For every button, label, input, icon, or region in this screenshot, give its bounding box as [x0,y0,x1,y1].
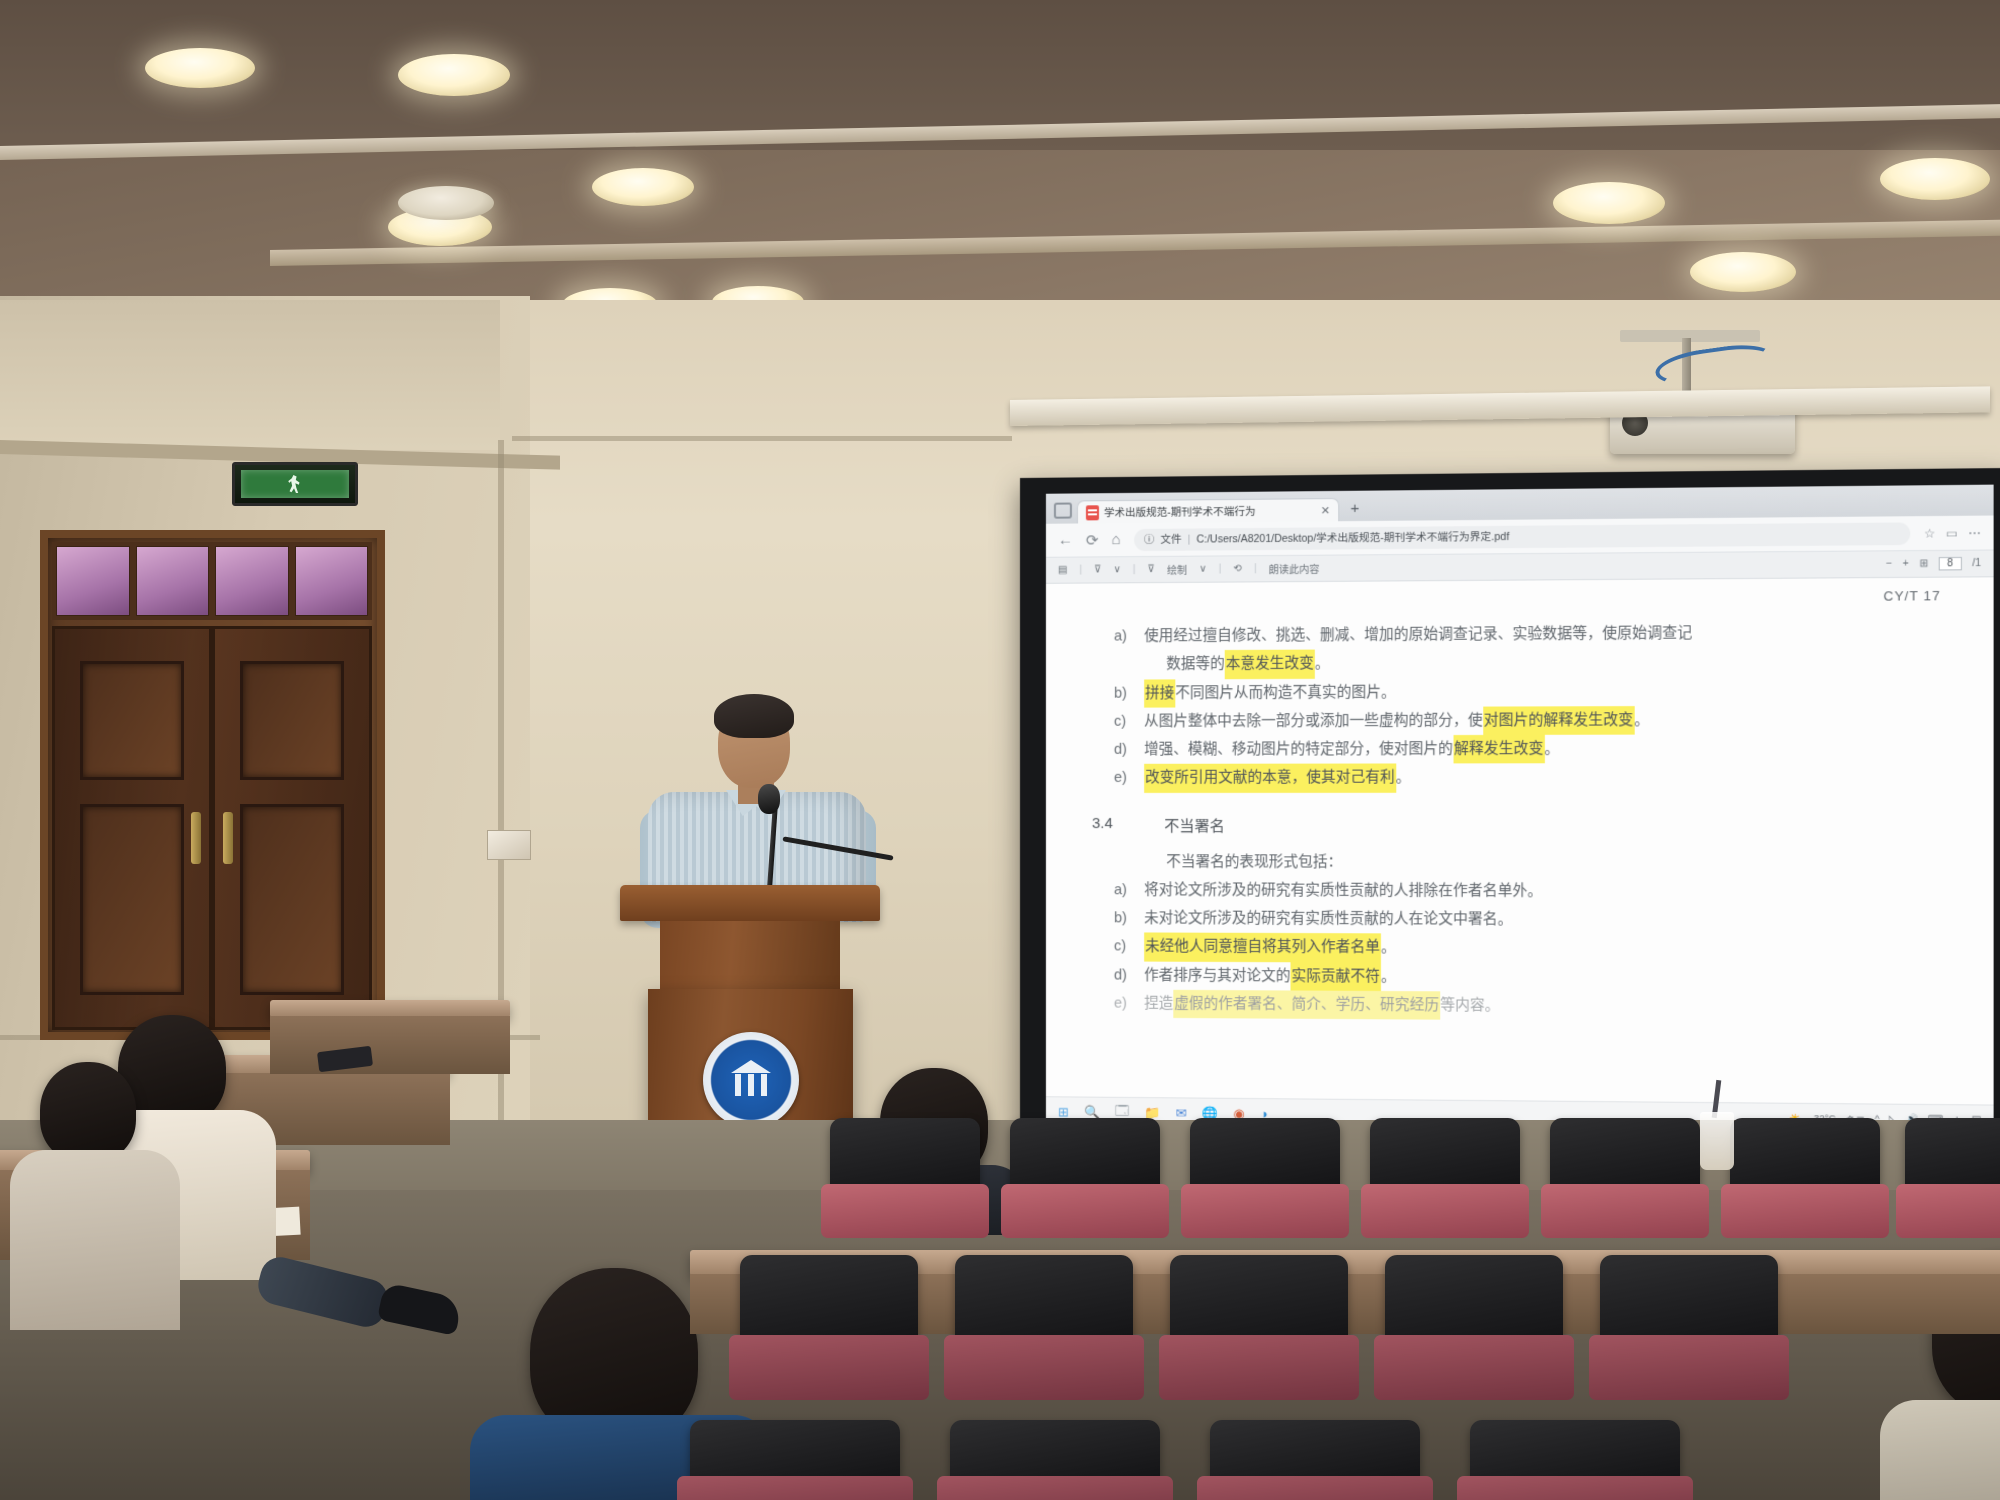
door-leaf-left[interactable] [52,626,212,1030]
chair[interactable] [1550,1118,1700,1236]
list-item-cont: 数据等的 本意发生改变 。 [1092,647,1945,679]
ceiling-light [592,168,694,206]
chair[interactable] [1730,1118,1880,1236]
list-text-cont: 数据等的 [1092,650,1225,679]
list-item: a) 将对论文所涉及的研究有实质性贡献的人排除在作者名单外。 [1092,876,1945,907]
speaker-hair [714,694,794,738]
ceiling-light [1880,158,1990,200]
chair-seat [1181,1184,1349,1238]
chair-back [690,1420,900,1482]
list-marker: e) [1092,989,1144,1018]
door-handle[interactable] [223,812,233,864]
drink-cup[interactable] [1700,1112,1734,1170]
desk-front-panel [270,1016,510,1074]
door-leaves[interactable] [52,626,372,1030]
address-bar-actions: ☆ ▭ ⋯ [1924,525,1981,540]
chair[interactable] [950,1420,1160,1500]
list-text-tail: 。 [1315,650,1330,679]
ceiling-light [1690,252,1796,292]
chair-back [740,1255,918,1343]
transom-pane [215,546,289,616]
pdf-toolbar-right: − + ⊞ 8 /1 [1886,557,1981,571]
door-panel [80,661,185,780]
list-text-tail: 。 [1634,706,1649,735]
pdf-tool-draw-icon[interactable]: ⊽ [1147,564,1154,575]
chair-seat [1457,1476,1692,1500]
emblem-roof [731,1060,771,1073]
chair-seat [1197,1476,1432,1500]
chair[interactable] [1170,1255,1348,1397]
collections-icon[interactable]: ▭ [1946,526,1958,540]
chair-back [1600,1255,1778,1343]
section-heading: 3.4 不当署名 [1092,815,1945,837]
chair-seat [1001,1184,1169,1238]
list-marker: a) [1092,622,1144,651]
highlighted-text: 对图片的解释发生改变 [1483,706,1634,735]
page-fade [1046,1056,1994,1104]
chair-back [1730,1118,1880,1191]
ceiling-light [398,186,494,220]
chair-back [1210,1420,1420,1482]
list-text: 使用经过擅自修改、挑选、删减、增加的原始调查记录、实验数据等，使原始调查记 [1144,619,1692,650]
wall-seam [498,440,504,1200]
list-text: 从图片整体中去除一部分或添加一些虚构的部分，使 [1144,706,1483,735]
transom-pane [56,546,130,616]
transom-pane [295,546,369,616]
list-item: e) 捏造 虚假的作者署名、简介、学历、研究经历 等内容。 [1092,989,1945,1023]
zoom-in-button[interactable]: + [1903,558,1909,569]
pdf-tool-draw-dropdown-icon[interactable]: ∨ [1199,564,1206,575]
podium-emblem-icon [703,1032,799,1128]
pdf-tool-draw-label[interactable]: 绘制 [1167,562,1187,577]
transom-pane [136,546,210,616]
chair[interactable] [1370,1118,1520,1236]
chair[interactable] [690,1420,900,1500]
chair-back [1190,1118,1340,1191]
list-marker: c) [1092,933,1144,962]
highlighted-text: 未经他人同意擅自将其列入作者名单 [1144,933,1381,962]
list-text-tail: 。 [1381,934,1396,963]
projected-image: 学术出版规范-期刊学术不端行为 ✕ + ← ⟳ ⌂ ⓘ 文件 | C:/User… [1046,485,1994,1136]
chair-back [830,1118,980,1191]
back-icon[interactable]: ← [1058,532,1073,549]
list-item: a) 使用经过擅自修改、挑选、删减、增加的原始调查记录、实验数据等，使原始调查记 [1092,618,1945,651]
chair[interactable] [1385,1255,1563,1397]
chair-seat [677,1476,912,1500]
tab-overview-icon[interactable] [1054,503,1072,519]
projection-screen: 学术出版规范-期刊学术不端行为 ✕ + ← ⟳ ⌂ ⓘ 文件 | C:/User… [1020,468,2000,1150]
chair-back [955,1255,1133,1343]
list-marker: a) [1092,876,1144,904]
highlighted-text: 拼接 [1144,679,1175,707]
list-text-tail: 。 [1396,764,1411,793]
chair-back [1010,1118,1160,1191]
list-text: 增强、模糊、移动图片的特定部分，使对图片的 [1144,735,1453,764]
list-marker: e) [1092,764,1144,792]
emblem-column [735,1074,741,1096]
door-panel [240,804,345,995]
chair-seat [944,1335,1143,1400]
chair-back [1550,1118,1700,1191]
list-item: b) 拼接 不同图片从而构造不真实的图片。 [1092,676,1945,708]
list-text-tail: 等内容。 [1440,991,1499,1020]
more-menu-icon[interactable]: ⋯ [1968,525,1981,540]
list-marker: d) [1092,736,1144,764]
mail-icon[interactable]: ✉ [1176,1105,1187,1121]
chair[interactable] [1010,1118,1160,1236]
address-url: C:/Users/A8201/Desktop/学术出版规范-期刊学术不端行为界定… [1196,529,1509,547]
list-text: 捏造 [1144,990,1173,1019]
fit-page-button[interactable]: ⊞ [1919,558,1928,569]
new-tab-icon[interactable]: + [1350,500,1359,517]
favorite-icon[interactable]: ☆ [1924,526,1935,540]
door-leaf-right[interactable] [212,626,372,1030]
lecture-hall-photo: 学术出版规范-期刊学术不端行为 ✕ + ← ⟳ ⌂ ⓘ 文件 | C:/User… [0,0,2000,1500]
chair-back [950,1420,1160,1482]
chair-seat [937,1476,1172,1500]
chair[interactable] [740,1255,918,1397]
chair-seat [729,1335,928,1400]
chair-seat [1896,1184,2000,1238]
list-marker: b) [1092,679,1144,708]
address-input[interactable]: ⓘ 文件 | C:/Users/A8201/Desktop/学术出版规范-期刊学… [1134,522,1910,551]
browser-tab[interactable]: 学术出版规范-期刊学术不端行为 ✕ [1077,498,1339,524]
ceiling-light [398,54,510,96]
toolbar-divider: | [1133,564,1136,575]
emblem-columns [735,1074,767,1096]
running-man-icon [287,475,303,493]
list-text: 未对论文所涉及的研究有实质性贡献的人在论文中署名。 [1144,904,1512,934]
list-text-tail: 。 [1381,962,1396,991]
toolbar-divider: | [1079,565,1082,576]
list-marker: d) [1092,961,1144,990]
pdf-tool-thumbnails-icon[interactable]: ▤ [1058,565,1067,576]
list-item: c) 从图片整体中去除一部分或添加一些虚构的部分，使 对图片的解释发生改变 。 [1092,705,1945,736]
chair-seat [1541,1184,1709,1238]
pdf-tool-erase-icon[interactable]: ⟲ [1233,563,1241,574]
chair-seat [1159,1335,1358,1400]
close-tab-icon[interactable]: ✕ [1321,504,1330,517]
highlighted-text: 实际贡献不符 [1290,962,1380,991]
toolbar-divider: | [1219,563,1222,574]
chair-back [1385,1255,1563,1343]
chair[interactable] [1600,1255,1778,1397]
chair-seat [1361,1184,1529,1238]
page-number-input[interactable]: 8 [1939,557,1962,571]
document-header: CY/T 17 [1092,588,1945,609]
security-label: 文件 [1160,532,1181,547]
chair-back [1905,1118,2000,1191]
pdf-favicon-icon [1086,505,1099,520]
chair[interactable] [1905,1118,2000,1236]
chair[interactable] [1190,1118,1340,1236]
list-text: 作者排序与其对论文的 [1144,961,1290,990]
chair-back [1170,1255,1348,1343]
list-item: b) 未对论文所涉及的研究有实质性贡献的人在论文中署名。 [1092,904,1945,936]
chair[interactable] [955,1255,1133,1397]
section-title: 不当署名 [1164,815,1224,836]
exit-sign-face [241,470,349,498]
light-switch-plate[interactable] [487,830,531,860]
highlighted-text: 解释发生改变 [1453,735,1544,764]
page-total-label: /1 [1972,558,1981,569]
chair-seat [1589,1335,1788,1400]
list-text-tail: 。 [1544,735,1559,764]
door-panel [80,804,185,995]
door-panel [240,661,345,780]
emblem-building-glyph [731,1060,771,1100]
pdf-tool-highlight-icon[interactable]: ⊽ [1094,564,1101,575]
reload-icon[interactable]: ⟳ [1086,531,1099,549]
chair[interactable] [830,1118,980,1236]
chair-back [1370,1118,1520,1191]
section-lead-text: 不当署名的表现形式包括： [1092,848,1945,878]
chair[interactable] [1210,1420,1420,1500]
ceiling-light [145,48,255,88]
door-handle[interactable] [191,812,201,864]
exit-sign [232,462,358,506]
ceiling-light [1553,182,1665,224]
chair[interactable] [1470,1420,1680,1500]
site-info-icon[interactable]: ⓘ [1144,532,1155,547]
chair-seat [821,1184,989,1238]
podium-neck [660,921,840,989]
home-icon[interactable]: ⌂ [1112,531,1121,548]
section-number: 3.4 [1092,815,1164,836]
list-item: c) 未经他人同意擅自将其列入作者名单 。 [1092,933,1945,965]
pdf-read-aloud-button[interactable]: 朗读此内容 [1269,561,1320,576]
emblem-column [748,1074,754,1096]
address-separator: | [1188,533,1191,545]
wall-seam [512,436,1012,441]
audience-body [10,1150,180,1330]
emblem-column [761,1074,767,1096]
pdf-tool-highlight-dropdown-icon[interactable]: ∨ [1113,564,1120,575]
highlighted-text: 改变所引用文献的本意，使其对己有利 [1144,764,1396,793]
list-marker: c) [1092,707,1144,735]
audience-head [40,1062,136,1162]
list-item: d) 增强、模糊、移动图片的特定部分，使对图片的 解释发生改变 。 [1092,734,1945,764]
list-item: e) 改变所引用文献的本意，使其对己有利 。 [1092,763,1945,792]
chair-seat [1721,1184,1889,1238]
toolbar-divider: | [1254,563,1257,574]
microphone-head [758,784,780,814]
list-text: 不同图片从而构造不真实的图片。 [1175,678,1395,707]
podium-top [620,885,880,921]
highlighted-text: 本意发生改变 [1225,650,1315,679]
tab-title: 学术出版规范-期刊学术不端行为 [1104,503,1256,519]
highlighted-text: 虚假的作者署名、简介、学历、研究经历 [1173,990,1440,1020]
upper-left-wall [0,300,500,450]
chair-back [1470,1420,1680,1482]
audience-body [1880,1400,2000,1500]
door-transom-window [52,542,372,620]
list-marker: b) [1092,904,1144,933]
zoom-out-button[interactable]: − [1886,558,1892,569]
chair-seat [1374,1335,1573,1400]
pdf-page: CY/T 17 a) 使用经过擅自修改、挑选、删减、增加的原始调查记录、实验数据… [1046,577,1994,1104]
list-text: 将对论文所涉及的研究有实质性贡献的人排除在作者名单外。 [1144,876,1542,906]
